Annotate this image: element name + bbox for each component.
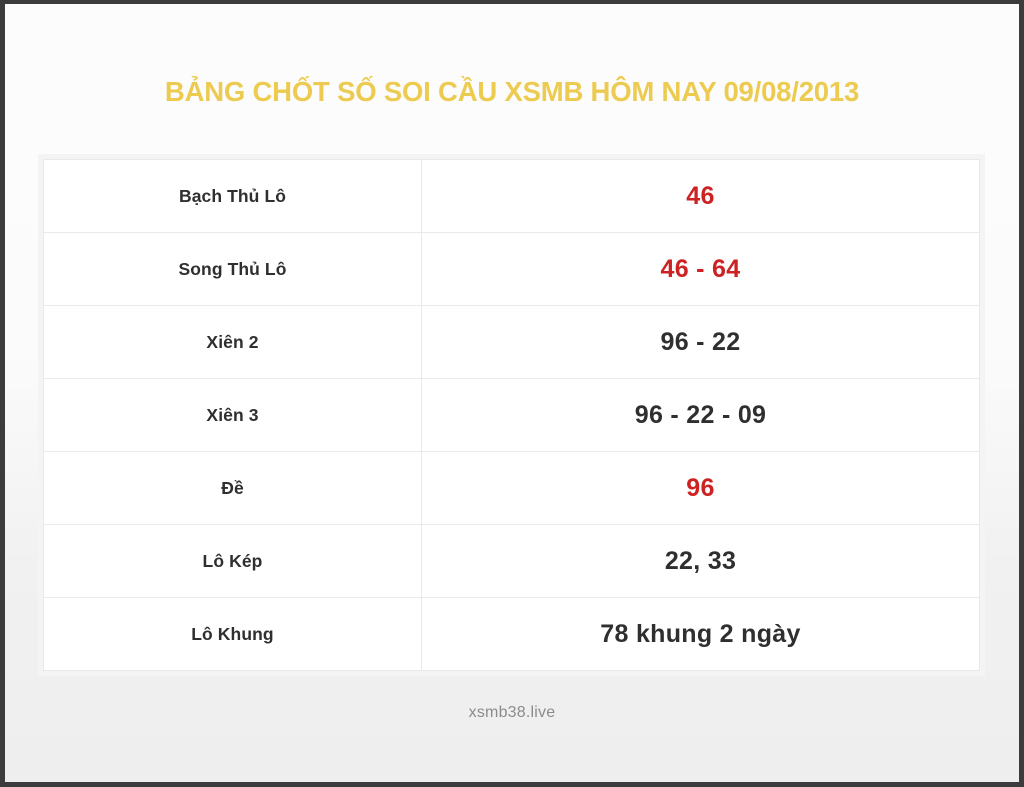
row-label: Xiên 3 xyxy=(44,379,422,451)
row-value: 96 - 22 - 09 xyxy=(422,379,979,451)
page-title: BẢNG CHỐT SỐ SOI CẦU XSMB HÔM NAY 09/08/… xyxy=(165,76,859,108)
lottery-prediction-card: Bạch Thủ Lô46Song Thủ Lô46 - 64Xiên 296 … xyxy=(38,154,985,676)
footer: xsmb38.live xyxy=(5,704,1019,722)
row-value: 96 - 22 xyxy=(422,306,979,378)
table-row: Song Thủ Lô46 - 64 xyxy=(43,232,980,305)
row-value: 22, 33 xyxy=(422,525,979,597)
row-label: Xiên 2 xyxy=(44,306,422,378)
row-label: Bạch Thủ Lô xyxy=(44,160,422,232)
table-row: Lô Khung78 khung 2 ngày xyxy=(43,597,980,671)
row-label: Lô Khung xyxy=(44,598,422,670)
row-value: 46 - 64 xyxy=(422,233,979,305)
site-watermark: xsmb38.live xyxy=(469,704,556,722)
row-value: 96 xyxy=(422,452,979,524)
page-title-container: BẢNG CHỐT SỐ SOI CẦU XSMB HÔM NAY 09/08/… xyxy=(5,76,1019,108)
table-row: Lô Kép22, 33 xyxy=(43,524,980,597)
row-label: Đề xyxy=(44,452,422,524)
table-row: Bạch Thủ Lô46 xyxy=(43,159,980,232)
row-value: 78 khung 2 ngày xyxy=(422,598,979,670)
page-content: BẢNG CHỐT SỐ SOI CẦU XSMB HÔM NAY 09/08/… xyxy=(5,4,1019,782)
page-frame: BẢNG CHỐT SỐ SOI CẦU XSMB HÔM NAY 09/08/… xyxy=(0,0,1024,787)
row-value: 46 xyxy=(422,160,979,232)
table-row: Xiên 296 - 22 xyxy=(43,305,980,378)
row-label: Lô Kép xyxy=(44,525,422,597)
prediction-table: Bạch Thủ Lô46Song Thủ Lô46 - 64Xiên 296 … xyxy=(43,159,980,671)
row-label: Song Thủ Lô xyxy=(44,233,422,305)
table-row: Đề96 xyxy=(43,451,980,524)
table-row: Xiên 396 - 22 - 09 xyxy=(43,378,980,451)
